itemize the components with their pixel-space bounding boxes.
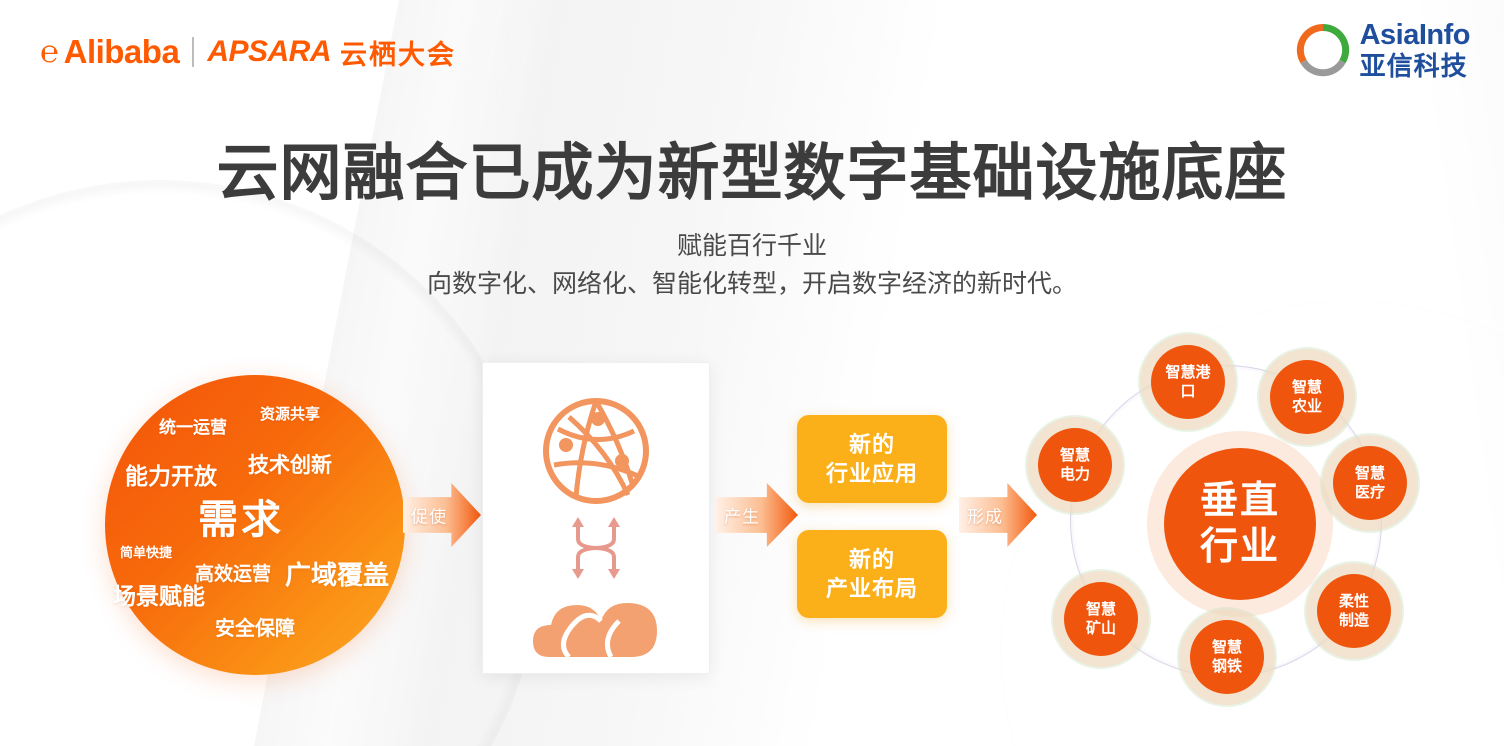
cluster-center-node[interactable]: 垂直 行业 xyxy=(1164,448,1316,600)
flow-arrow-label: 产生 xyxy=(724,503,760,528)
cluster-node-line-2: 钢铁 xyxy=(1212,657,1242,676)
cluster-node-line-2: 农业 xyxy=(1292,397,1322,416)
cloud-network-convergence-card xyxy=(482,362,710,674)
vertical-industry-cluster: 垂直 行业 智慧港 口 智慧 农业 智慧 医疗 柔性 制造 智慧 钢铁 智慧 矿… xyxy=(1020,320,1460,720)
asiainfo-logo: AsiaInfo 亚信科技 xyxy=(1295,22,1470,78)
cluster-node-smart-port[interactable]: 智慧港 口 xyxy=(1151,345,1225,419)
cluster-node-smart-power[interactable]: 智慧 电力 xyxy=(1038,428,1112,502)
word-cloud-item: 统一运营 xyxy=(159,413,227,438)
asiainfo-english-name: AsiaInfo xyxy=(1360,21,1470,50)
cluster-node-line-1: 智慧 xyxy=(1355,464,1385,483)
cloud-icon xyxy=(531,587,661,661)
subtitle-line-2: 向数字化、网络化、智能化转型，开启数字经济的新时代。 xyxy=(0,266,1504,304)
outcome-box-line-1: 新的 xyxy=(849,545,895,574)
word-cloud-item: 场景赋能 xyxy=(113,577,205,611)
cluster-node-line-2: 矿山 xyxy=(1086,619,1116,638)
cluster-node-smart-mining[interactable]: 智慧 矿山 xyxy=(1064,582,1138,656)
flow-arrow-promote: 促使 xyxy=(403,483,481,547)
page-subtitle: 赋能百行千业 向数字化、网络化、智能化转型，开启数字经济的新时代。 xyxy=(0,228,1504,303)
flow-arrow-produce: 产生 xyxy=(716,483,798,547)
word-cloud-item: 广域覆盖 xyxy=(285,555,389,592)
outcome-box-line-1: 新的 xyxy=(849,430,895,459)
cluster-node-line-1: 柔性 xyxy=(1339,592,1369,611)
subtitle-line-1: 赋能百行千业 xyxy=(0,228,1504,266)
word-cloud-item: 简单快捷 xyxy=(120,542,172,561)
alibaba-apsara-logo: ℮ Alibaba APSARA 云栖大会 xyxy=(40,30,456,74)
apsara-chinese-name: 云栖大会 xyxy=(340,33,456,72)
cluster-node-flexible-manufacturing[interactable]: 柔性 制造 xyxy=(1317,574,1391,648)
asiainfo-ring-icon xyxy=(1295,22,1351,78)
asiainfo-text-block: AsiaInfo 亚信科技 xyxy=(1360,21,1470,79)
flow-arrow-label: 形成 xyxy=(967,503,1003,528)
cluster-node-line-1: 智慧 xyxy=(1060,446,1090,465)
outcome-box-industry-application[interactable]: 新的 行业应用 xyxy=(797,415,947,503)
cluster-node-line-2: 口 xyxy=(1180,382,1195,401)
outcome-box-line-2: 行业应用 xyxy=(826,459,918,488)
cluster-node-line-2: 制造 xyxy=(1339,611,1369,630)
outcome-box-industrial-layout[interactable]: 新的 产业布局 xyxy=(797,530,947,618)
flow-arrow-label: 促使 xyxy=(411,503,447,528)
word-cloud-item: 高效运营 xyxy=(195,559,271,586)
cluster-node-line-1: 智慧 xyxy=(1292,378,1322,397)
cluster-node-line-1: 智慧 xyxy=(1212,638,1242,657)
outcome-box-line-2: 产业布局 xyxy=(826,574,918,603)
cluster-node-line-2: 医疗 xyxy=(1355,483,1385,502)
cluster-node-line-1: 智慧 xyxy=(1086,600,1116,619)
network-globe-icon xyxy=(536,391,656,511)
word-cloud-item: 能力开放 xyxy=(125,457,217,491)
cluster-center-line-2: 行业 xyxy=(1200,524,1280,570)
cluster-center-line-1: 垂直 xyxy=(1200,478,1280,524)
demand-center-label: 需求 xyxy=(198,487,284,545)
bidirectional-exchange-arrows-icon xyxy=(564,513,628,583)
word-cloud-item: 资源共享 xyxy=(260,403,320,424)
cluster-node-smart-agriculture[interactable]: 智慧 农业 xyxy=(1270,360,1344,434)
logo-divider xyxy=(192,37,194,67)
page-title: 云网融合已成为新型数字基础设施底座 xyxy=(0,122,1504,212)
word-cloud-item: 技术创新 xyxy=(248,449,332,479)
word-cloud-item: 安全保障 xyxy=(215,612,295,641)
alibaba-wordmark: Alibaba xyxy=(64,33,180,71)
slide-canvas: ℮ Alibaba APSARA 云栖大会 AsiaInfo 亚信科技 云网融合… xyxy=(0,0,1504,746)
cluster-node-line-2: 电力 xyxy=(1060,465,1090,484)
asiainfo-chinese-name: 亚信科技 xyxy=(1360,53,1470,79)
alibaba-glyph-icon: ℮ xyxy=(40,34,58,70)
demand-word-cloud-circle: 需求 统一运营 资源共享 能力开放 技术创新 简单快捷 高效运营 广域覆盖 场景… xyxy=(105,375,405,675)
apsara-wordmark: APSARA xyxy=(207,35,331,69)
cluster-node-smart-healthcare[interactable]: 智慧 医疗 xyxy=(1333,446,1407,520)
cluster-node-line-1: 智慧港 xyxy=(1165,363,1210,382)
cluster-node-smart-steel[interactable]: 智慧 钢铁 xyxy=(1190,620,1264,694)
